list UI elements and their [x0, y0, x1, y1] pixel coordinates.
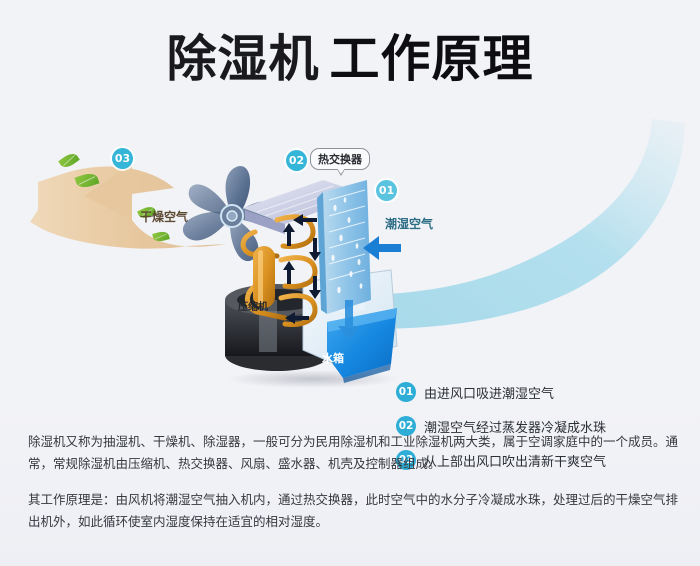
paragraph: 其工作原理是：由风机将潮湿空气抽入机内，通过热交换器，此时空气中的水分子冷凝成水…: [28, 489, 678, 533]
step-text: 由进风口吸进潮湿空气: [424, 383, 554, 402]
list-item: 01 由进风口吸进潮湿空气: [396, 375, 686, 409]
page-title: 除湿机工作原理: [0, 28, 700, 90]
description-block: 除湿机又称为抽湿机、干燥机、除湿器，一般可分为民用除湿机和工业除湿机两大类，属于…: [28, 418, 678, 533]
paragraph: 除湿机又称为抽湿机、干燥机、除湿器，一般可分为民用除湿机和工业除湿机两大类，属于…: [28, 431, 678, 475]
diagram-stage: 03 干燥空气: [0, 120, 700, 410]
title-part-2: 工作原理: [330, 30, 534, 88]
step-badge: 01: [396, 382, 416, 402]
page-root: 除湿机工作原理: [0, 0, 700, 566]
label-water-tank: 水箱: [322, 350, 344, 366]
badge-dry-air: 03: [112, 148, 133, 169]
title-part-1: 除湿机: [167, 30, 320, 88]
dehumidifier-unit: [215, 150, 405, 400]
label-compressor: 压缩机: [238, 298, 268, 313]
